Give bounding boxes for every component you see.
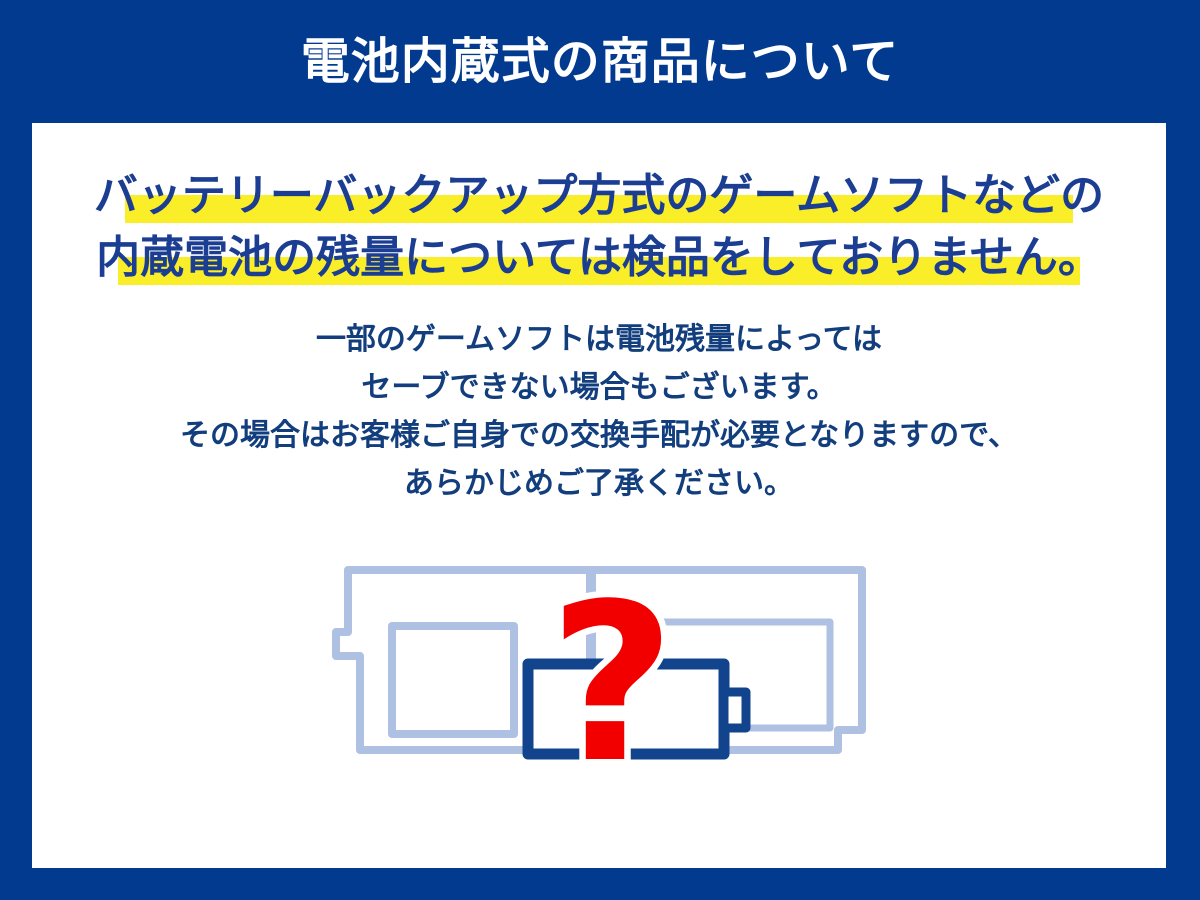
body-line: あらかじめご了承ください。 (32, 460, 1166, 508)
body-line: その場合はお客様ご自身での交換手配が必要となりますので、 (32, 412, 1166, 460)
header-banner: 電池内蔵式の商品について (0, 0, 1200, 123)
svg-text:?: ? (549, 558, 675, 784)
body-line: 一部のゲームソフトは電池残量によっては (32, 316, 1166, 364)
body-paragraph: 一部のゲームソフトは電池残量によっては セーブできない場合もございます。 その場… (32, 316, 1166, 508)
headline-line-text: バッテリーバックアップ方式のゲームソフトなどの (94, 165, 1104, 227)
page-title: 電池内蔵式の商品について (301, 37, 900, 86)
question-mark-icon: ? (549, 558, 675, 784)
content-panel: バッテリーバックアップ方式のゲームソフトなどの 内蔵電池の残量については検品をし… (32, 123, 1166, 868)
headline-line-text: 内蔵電池の残量については検品をしておりません。 (96, 227, 1102, 289)
headline-line: バッテリーバックアップ方式のゲームソフトなどの (32, 165, 1166, 227)
illustration-group: ? (300, 554, 900, 784)
poster-root: 電池内蔵式の商品について バッテリーバックアップ方式のゲームソフトなどの 内蔵電… (0, 0, 1200, 900)
headline-line: 内蔵電池の残量については検品をしておりません。 (32, 227, 1166, 289)
body-line: セーブできない場合もございます。 (32, 364, 1166, 412)
cartridge-label-rect (392, 626, 514, 734)
battery-terminal (724, 692, 746, 728)
headline-block: バッテリーバックアップ方式のゲームソフトなどの 内蔵電池の残量については検品をし… (32, 165, 1166, 289)
